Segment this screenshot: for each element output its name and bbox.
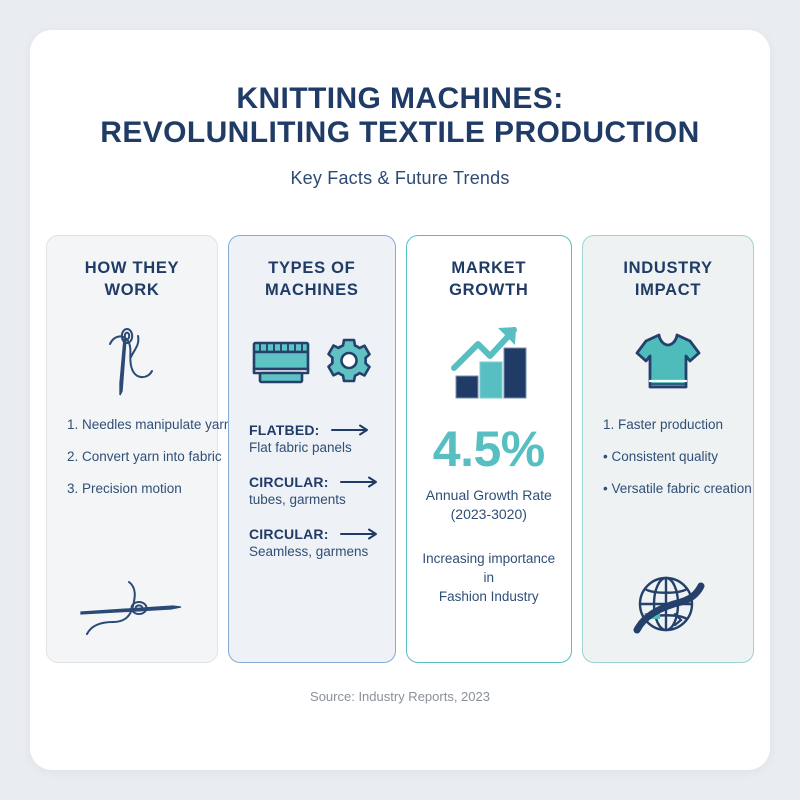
stat-note-line-1: Increasing importance in — [419, 550, 559, 588]
type-name: CIRCULAR: — [249, 526, 329, 542]
card-industry-impact: INDUSTRY IMPACT 1. Faster production • C… — [582, 235, 754, 663]
arrow-right-icon — [339, 528, 383, 540]
list-item: FLATBED: Flat fabric panels — [249, 422, 383, 455]
tshirt-icon — [633, 324, 703, 400]
poster-subtitle: Key Facts & Future Trends — [68, 168, 732, 189]
infographic-poster: KNITTING MACHINES: REVOLUNLITING TEXTILE… — [30, 30, 770, 770]
list-item: CIRCULAR: tubes, garments — [249, 474, 383, 507]
stat-note: Increasing importance in Fashion Industr… — [419, 550, 559, 607]
bar-chart-growth-icon — [446, 324, 532, 400]
card-title-industry-impact: INDUSTRY IMPACT — [595, 258, 741, 304]
type-desc: Flat fabric panels — [249, 440, 383, 455]
card-row: HOW THEY WORK 1. Needles manipulate yarn… — [42, 235, 758, 663]
gear-icon — [324, 337, 374, 387]
needle-horizontal-icon — [47, 578, 217, 640]
source-footer: Source: Industry Reports, 2023 — [30, 689, 770, 704]
stat-value: 4.5% — [433, 424, 545, 474]
card-title-how-they-work: HOW THEY WORK — [59, 258, 205, 304]
type-name: CIRCULAR: — [249, 474, 329, 490]
industry-impact-list: 1. Faster production • Consistent qualit… — [595, 416, 741, 513]
poster-title-line-1: KNITTING MACHINES: — [68, 82, 732, 116]
type-name: FLATBED: — [249, 422, 320, 438]
card-title-market-growth: MARKET GROWTH — [419, 258, 559, 304]
list-item: 1. Faster production — [603, 416, 741, 434]
needle-thread-icon — [100, 324, 164, 400]
list-item: • Consistent quality — [603, 448, 741, 466]
stat-note-line-2: Fashion Industry — [419, 588, 559, 607]
card-how-they-work: HOW THEY WORK 1. Needles manipulate yarn… — [46, 235, 218, 663]
poster-header: KNITTING MACHINES: REVOLUNLITING TEXTILE… — [30, 30, 770, 189]
arrow-right-icon — [330, 424, 374, 436]
card-title-types-of-machines: TYPES OF MACHINES — [241, 258, 383, 304]
flatbed-machine-icon — [250, 336, 312, 388]
stat-label-line-2: (2023-3020) — [426, 505, 552, 524]
type-desc: Seamless, garmens — [249, 544, 383, 559]
poster-title-line-2: REVOLUNLITING TEXTILE PRODUCTION — [68, 116, 732, 150]
list-item: CIRCULAR: Seamless, garmens — [249, 526, 383, 559]
how-they-work-list: 1. Needles manipulate yarn 2. Convert ya… — [59, 416, 205, 513]
list-item: 1. Needles manipulate yarn — [67, 416, 205, 434]
globe-icon — [583, 570, 753, 640]
stat-label: Annual Growth Rate (2023-3020) — [426, 486, 552, 524]
stat-label-line-1: Annual Growth Rate — [426, 486, 552, 505]
list-item: 2. Convert yarn into fabric — [67, 448, 205, 466]
machine-types-list: FLATBED: Flat fabric panels CIRCULAR: — [241, 422, 383, 578]
card-types-of-machines: TYPES OF MACHINES — [228, 235, 396, 663]
card-market-growth: MARKET GROWTH 4.5% Annual Growth Rate (2… — [406, 235, 572, 663]
list-item: 3. Precision motion — [67, 480, 205, 498]
arrow-right-icon — [339, 476, 383, 488]
list-item: • Versatile fabric creation — [603, 480, 741, 498]
type-desc: tubes, garments — [249, 492, 383, 507]
